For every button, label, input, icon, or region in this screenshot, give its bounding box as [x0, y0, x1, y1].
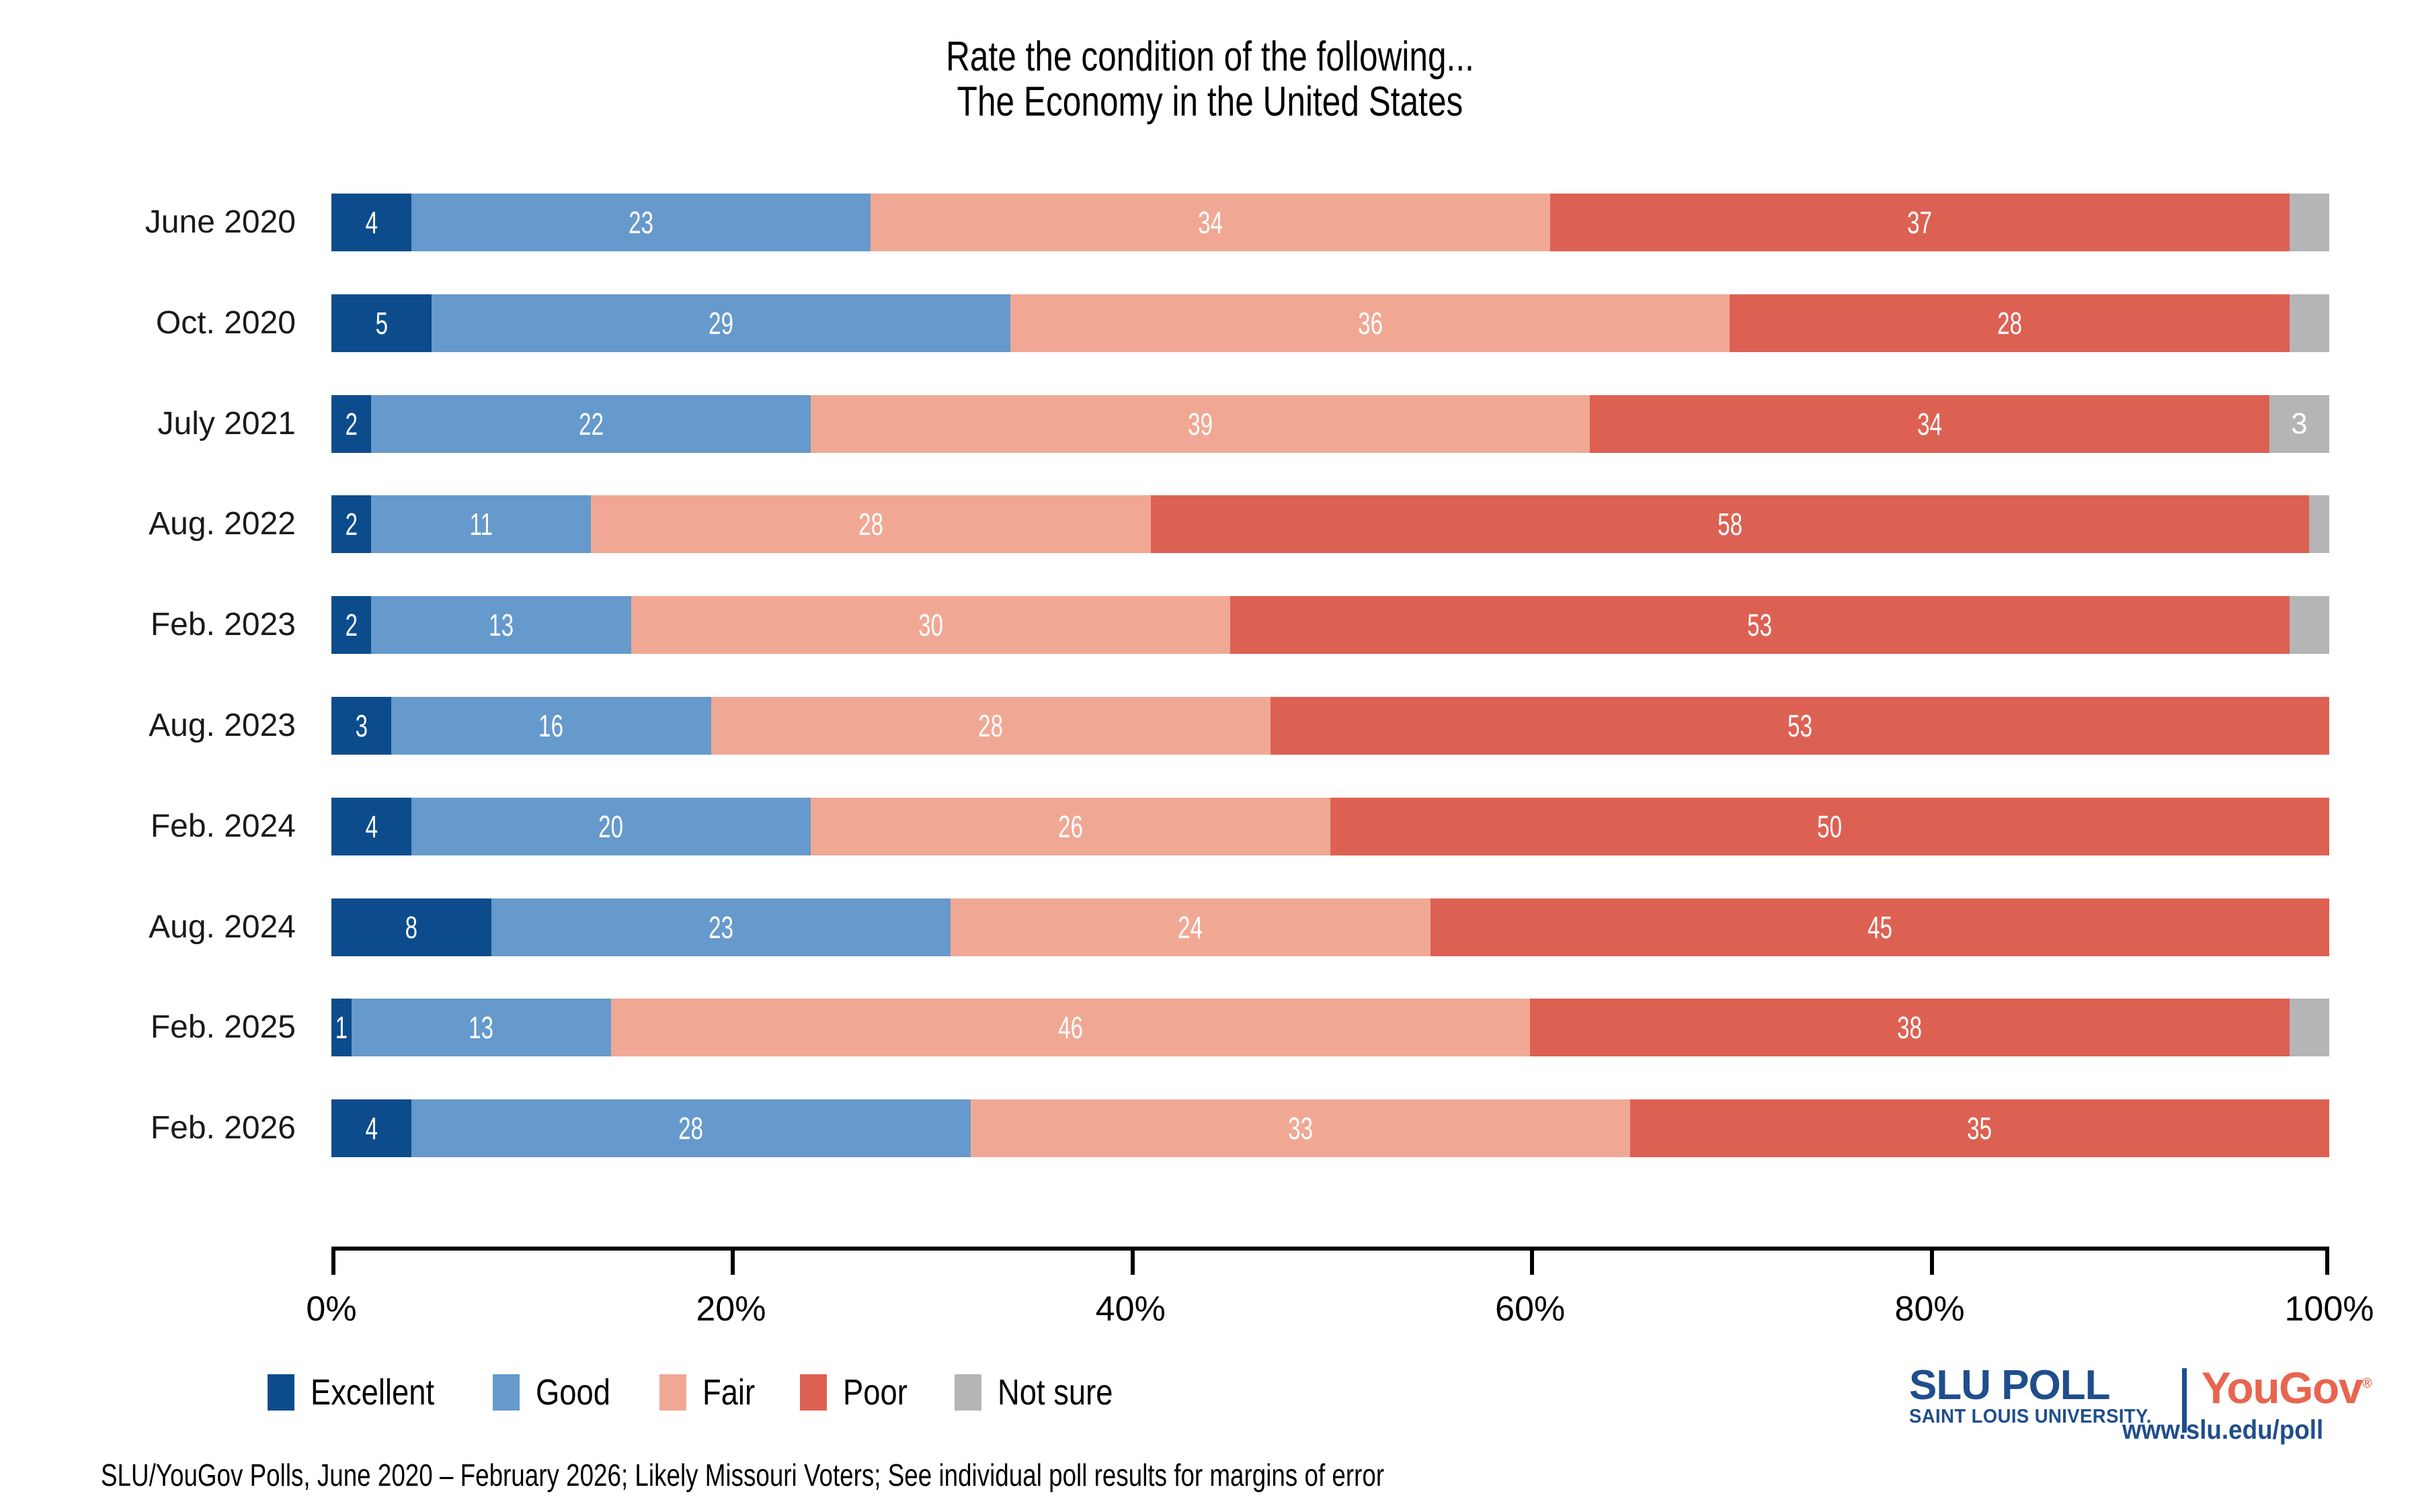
slu-poll-wordmark: SLU POLL	[1909, 1366, 2110, 1406]
bar-row: 2133053	[331, 596, 2329, 654]
bar-segment-value: 13	[469, 1012, 493, 1043]
bar-segment-not-sure	[2290, 194, 2329, 251]
bar-segment-value: 28	[978, 710, 1003, 741]
bar-segment-excellent: 5	[331, 294, 432, 352]
x-axis-tick-label: 100%	[2285, 1289, 2374, 1329]
bar-segment-fair: 30	[631, 596, 1231, 654]
legend-swatch-icon	[800, 1374, 827, 1411]
legend-label: Good	[536, 1372, 610, 1413]
bar-segment-value: 38	[1897, 1012, 1922, 1043]
legend-label: Not sure	[998, 1372, 1113, 1413]
x-axis-tick-label: 60%	[1495, 1289, 1565, 1329]
legend-label: Poor	[843, 1372, 908, 1413]
saint-louis-university-text: SAINT LOUIS UNIVERSITY.	[1909, 1406, 2152, 1428]
bar-segment-poor: 38	[1530, 999, 2289, 1056]
bar-segment-value: 24	[1178, 912, 1203, 943]
bar-segment-good: 29	[432, 294, 1011, 352]
yougov-logo: YouGov® www.slu.edu/poll	[2202, 1366, 2372, 1445]
bar-segment-excellent: 4	[331, 798, 411, 855]
y-axis-label: Feb. 2023	[0, 596, 296, 654]
bar-segment-poor: 28	[1730, 294, 2289, 352]
bar-segment-not-sure: 3	[2269, 395, 2329, 453]
bar-segment-value: 34	[1198, 207, 1223, 238]
bar-segment-value: 2	[346, 610, 358, 640]
bar-segment-fair: 34	[871, 194, 1549, 251]
x-axis-tick-label: 20%	[696, 1289, 766, 1329]
bar-segment-fair: 36	[1010, 294, 1730, 352]
bar-segment-value: 23	[629, 207, 653, 238]
bar-segment-good: 16	[391, 697, 711, 755]
bar-segment-poor: 34	[1590, 395, 2269, 453]
bar-segment-value: 2	[346, 409, 358, 439]
bar-segment-not-sure	[2290, 294, 2329, 352]
y-axis-label: Feb. 2025	[0, 999, 296, 1056]
bar-row: 3162853	[331, 697, 2329, 755]
x-axis-line	[331, 1247, 2329, 1251]
bar-segment-poor: 53	[1230, 596, 2289, 654]
bar-row: 1134638	[331, 999, 2329, 1056]
legend-label: Fair	[702, 1372, 755, 1413]
bar-segment-value: 39	[1188, 409, 1213, 439]
bar-row: 22239343	[331, 395, 2329, 453]
bar-segment-fair: 33	[971, 1099, 1630, 1157]
bar-segment-value: 2	[346, 509, 358, 540]
bar-segment-value: 35	[1967, 1113, 1992, 1144]
bar-segment-value: 4	[365, 811, 377, 842]
y-axis-label: Aug. 2022	[0, 495, 296, 553]
bar-segment-value: 28	[1997, 308, 2022, 339]
y-axis-label: Feb. 2024	[0, 798, 296, 855]
legend-item-fair[interactable]: Fair	[659, 1372, 765, 1413]
y-axis-category-labels: June 2020Oct. 2020July 2021Aug. 2022Feb.…	[0, 194, 296, 1200]
x-axis-tick-label: 80%	[1895, 1289, 1965, 1329]
bar-row: 4233437	[331, 194, 2329, 251]
page-title: Rate the condition of the following... T…	[0, 35, 2420, 125]
legend: ExcellentGoodFairPoorNot sure	[268, 1368, 1170, 1417]
bar-segment-poor: 35	[1630, 1099, 2329, 1157]
bar-segment-not-sure	[2309, 495, 2329, 553]
legend-item-good[interactable]: Good	[493, 1372, 624, 1413]
title-line-1: Rate the condition of the following...	[242, 35, 2178, 80]
bar-segment-excellent: 2	[331, 395, 371, 453]
bar-segment-fair: 28	[711, 697, 1270, 755]
x-axis-tick	[331, 1247, 335, 1275]
registered-trademark-icon: ®	[2362, 1376, 2372, 1391]
bar-segment-value: 11	[470, 509, 493, 540]
bar-segment-excellent: 4	[331, 194, 411, 251]
bar-segment-value: 1	[335, 1012, 348, 1043]
bar-segment-excellent: 2	[331, 495, 371, 553]
yougov-wordmark: YouGov®	[2202, 1366, 2372, 1410]
bar-segment-value: 45	[1867, 912, 1892, 943]
bar-segment-value: 4	[365, 207, 377, 238]
bar-segment-value: 29	[709, 308, 733, 339]
bar-segment-value: 34	[1917, 409, 1942, 439]
bar-segment-poor: 50	[1330, 798, 2329, 855]
bar-segment-excellent: 4	[331, 1099, 411, 1157]
y-axis-label: Aug. 2023	[0, 697, 296, 755]
bar-segment-value: 20	[599, 811, 624, 842]
x-axis-tick	[1530, 1247, 1534, 1275]
bar-segment-value: 37	[1907, 207, 1932, 238]
bar-segment-good: 28	[411, 1099, 971, 1157]
bar-segment-value: 13	[489, 610, 514, 640]
yougov-text: YouGov	[2202, 1363, 2362, 1413]
poll-url-link[interactable]: www.slu.edu/poll	[2122, 1415, 2323, 1445]
bar-segment-fair: 39	[811, 395, 1590, 453]
legend-item-poor[interactable]: Poor	[800, 1372, 920, 1413]
y-axis-label: Feb. 2026	[0, 1099, 296, 1157]
source-footnote: SLU/YouGov Polls, June 2020 – February 2…	[101, 1457, 1384, 1493]
bar-segment-value: 23	[709, 912, 733, 943]
x-axis-tick-label: 0%	[306, 1289, 356, 1329]
bar-segment-value: 33	[1288, 1113, 1313, 1144]
bar-row: 2112858	[331, 495, 2329, 553]
bar-segment-poor: 58	[1151, 495, 2310, 553]
legend-swatch-icon	[493, 1374, 520, 1411]
bar-segment-value: 28	[679, 1113, 704, 1144]
y-axis-label: Aug. 2024	[0, 898, 296, 956]
legend-swatch-icon	[268, 1374, 294, 1411]
bar-row: 4202650	[331, 798, 2329, 855]
x-axis-tick	[731, 1247, 735, 1275]
bar-segment-good: 20	[411, 798, 811, 855]
bar-segment-good: 11	[371, 495, 591, 553]
bar-segment-value: 50	[1818, 811, 1843, 842]
legend-item-not-sure[interactable]: Not sure	[955, 1372, 1135, 1413]
bar-segment-value: 5	[375, 308, 387, 339]
bar-segment-poor: 53	[1270, 697, 2329, 755]
stacked-bar-plot-area: 4233437529362822239343211285821330533162…	[331, 194, 2329, 1200]
bar-segment-good: 13	[371, 596, 631, 654]
legend-item-excellent[interactable]: Excellent	[268, 1372, 458, 1413]
bar-segment-poor: 37	[1550, 194, 2290, 251]
bar-segment-good: 23	[491, 898, 951, 956]
title-line-2: The Economy in the United States	[242, 80, 2178, 125]
bar-segment-value: 28	[858, 509, 883, 540]
bar-segment-value: 3	[2291, 409, 2307, 439]
bar-segment-good: 13	[352, 999, 611, 1056]
legend-swatch-icon	[955, 1374, 981, 1411]
bar-segment-value: 8	[405, 912, 417, 943]
x-axis-tick	[2325, 1247, 2329, 1275]
y-axis-label: June 2020	[0, 194, 296, 251]
bar-segment-fair: 28	[591, 495, 1150, 553]
bar-segment-value: 46	[1058, 1012, 1083, 1043]
bar-segment-excellent: 1	[331, 999, 352, 1056]
y-axis-label: Oct. 2020	[0, 294, 296, 352]
bar-segment-good: 23	[411, 194, 871, 251]
bar-segment-value: 53	[1787, 710, 1812, 741]
x-axis-tick-label: 40%	[1096, 1289, 1166, 1329]
bar-segment-value: 53	[1748, 610, 1773, 640]
bar-segment-value: 22	[579, 409, 604, 439]
bar-segment-excellent: 2	[331, 596, 371, 654]
x-axis-tick	[1131, 1247, 1135, 1275]
bar-segment-value: 16	[538, 710, 563, 741]
bar-segment-value: 26	[1058, 811, 1083, 842]
bar-segment-excellent: 8	[331, 898, 491, 956]
branding-block: SLU POLL SAINT LOUIS UNIVERSITY. YouGov®…	[1909, 1366, 2420, 1500]
bar-row: 4283335	[331, 1099, 2329, 1157]
bar-segment-poor: 45	[1430, 898, 2329, 956]
bar-segment-value: 30	[918, 610, 943, 640]
bar-segment-value: 36	[1358, 308, 1383, 339]
bar-segment-value: 58	[1718, 509, 1742, 540]
legend-label: Excellent	[311, 1372, 434, 1413]
bar-segment-good: 22	[371, 395, 811, 453]
bar-segment-excellent: 3	[331, 697, 391, 755]
bar-segment-fair: 24	[951, 898, 1430, 956]
x-axis-tick	[1930, 1247, 1934, 1275]
bar-segment-value: 3	[355, 710, 367, 741]
bar-segment-not-sure	[2290, 999, 2329, 1056]
bar-segment-fair: 26	[811, 798, 1330, 855]
bar-segment-fair: 46	[611, 999, 1530, 1056]
bar-row: 8232445	[331, 898, 2329, 956]
bar-segment-not-sure	[2290, 596, 2329, 654]
bar-row: 5293628	[331, 294, 2329, 352]
legend-swatch-icon	[659, 1374, 686, 1411]
y-axis-label: July 2021	[0, 395, 296, 453]
bar-segment-value: 4	[365, 1113, 377, 1144]
